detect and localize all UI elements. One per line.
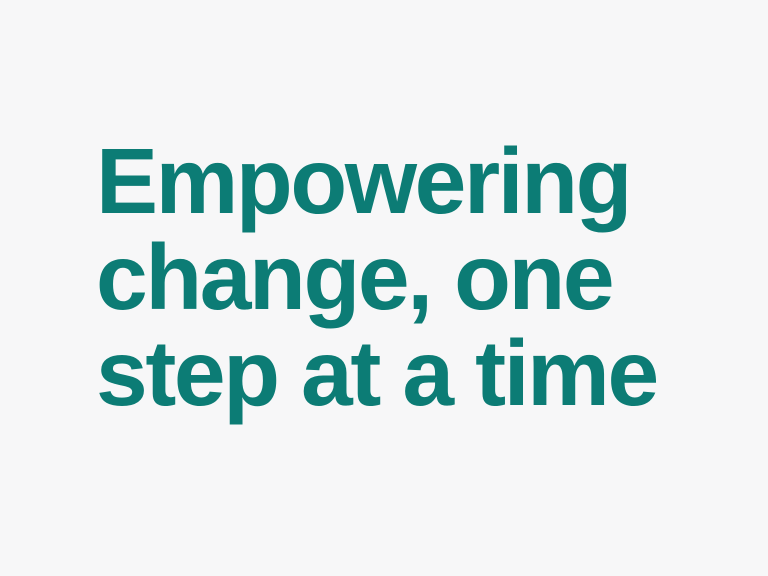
headline-block: Empowering change, one step at a time <box>96 133 716 421</box>
poster-canvas: Empowering change, one step at a time <box>0 0 768 576</box>
headline-line-2: change, one <box>96 229 716 325</box>
headline-line-1: Empowering <box>96 133 716 229</box>
headline-line-3: step at a time <box>96 325 716 421</box>
